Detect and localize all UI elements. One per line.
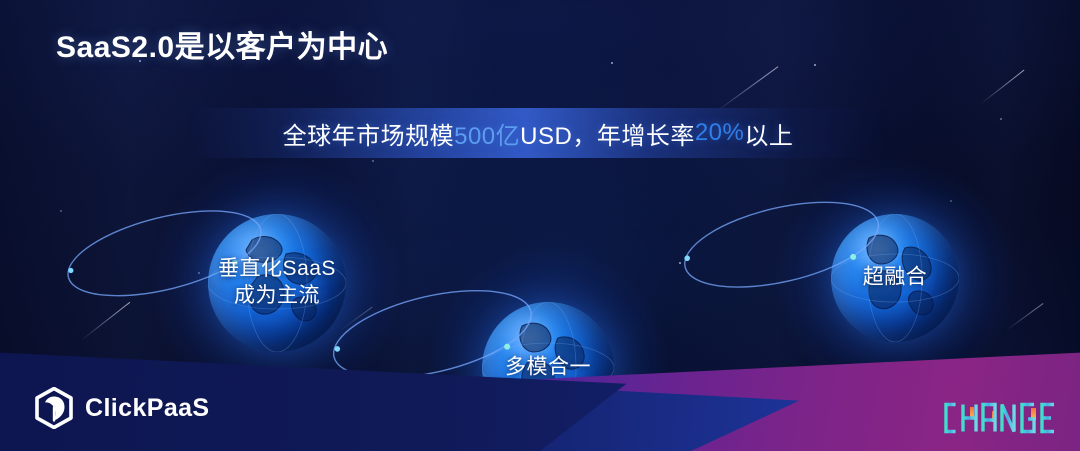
banner-growth-rate: 20% xyxy=(695,119,745,147)
banner-market-size: 500亿 xyxy=(454,116,520,151)
subtitle-banner: 全球年市场规模 500亿USD，年增长率20%以上 xyxy=(188,108,888,158)
page-title: SaaS2.0是以客户为中心 xyxy=(56,22,388,66)
banner-middle: USD，年增长率 xyxy=(520,116,695,151)
hexagon-logo-icon xyxy=(34,387,74,429)
globe-hyper-converged-label: 超融合 xyxy=(765,265,1025,292)
brand-name: ClickPaaS xyxy=(85,394,210,423)
banner-suffix: 以上 xyxy=(744,116,793,151)
banner-prefix: 全球年市场规模 xyxy=(283,116,455,151)
globe-vertical-saas: 垂直化SaaS 成为主流 xyxy=(177,183,377,383)
globe-hyper-converged: 超融合 xyxy=(795,178,995,378)
brand-logo[interactable]: ClickPaaS xyxy=(34,387,210,429)
presentation-slide: SaaS2.0是以客户为中心 全球年市场规模 500亿USD，年增长率20%以上 xyxy=(0,0,1080,451)
globe-vertical-saas-label: 垂直化SaaS 成为主流 xyxy=(147,256,407,310)
change-wordmark xyxy=(942,399,1062,437)
